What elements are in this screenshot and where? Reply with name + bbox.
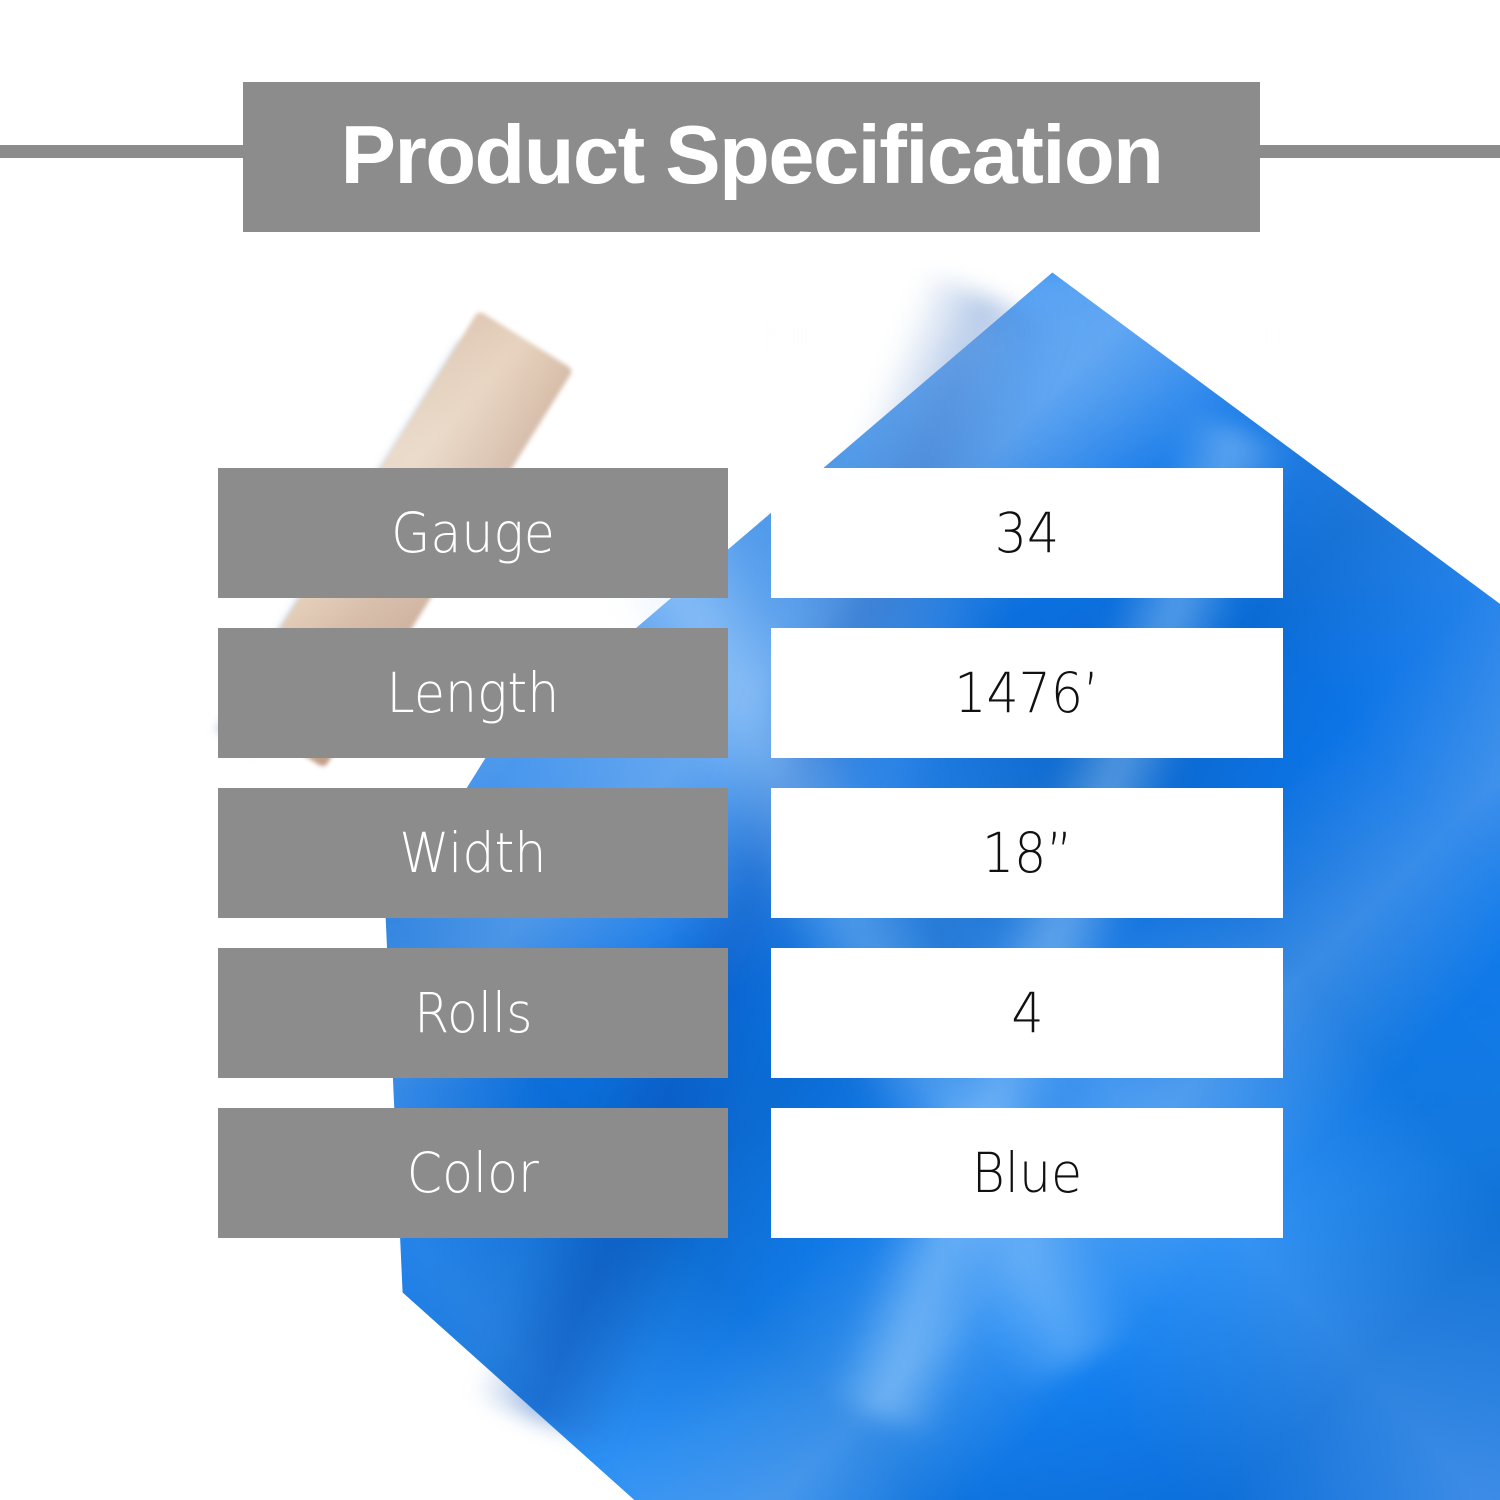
spec-label-text: Color [407, 1146, 539, 1201]
table-row: Gauge 34 [218, 468, 1283, 598]
spec-value-text: 1476’ [955, 666, 1100, 721]
header-banner: Product Specification [243, 82, 1260, 232]
table-row: Rolls 4 [218, 948, 1283, 1078]
spec-value-gauge: 34 [771, 468, 1283, 598]
spec-label-text: Length [387, 666, 560, 721]
spec-label-color: Color [218, 1108, 728, 1238]
spec-value-length: 1476’ [771, 628, 1283, 758]
spec-value-text: Blue [972, 1146, 1082, 1201]
spec-value-text: 4 [1011, 986, 1043, 1041]
spec-value-color: Blue [771, 1108, 1283, 1238]
table-row: Length 1476’ [218, 628, 1283, 758]
spec-label-text: Rolls [414, 986, 532, 1041]
table-row: Color Blue [218, 1108, 1283, 1238]
spec-label-gauge: Gauge [218, 468, 728, 598]
spec-label-text: Gauge [391, 506, 555, 561]
spec-label-width: Width [218, 788, 728, 918]
spec-label-text: Width [399, 826, 546, 881]
spec-value-text: 34 [995, 506, 1059, 561]
spec-value-width: 18” [771, 788, 1283, 918]
spec-value-rolls: 4 [771, 948, 1283, 1078]
spec-label-rolls: Rolls [218, 948, 728, 1078]
table-row: Width 18” [218, 788, 1283, 918]
specification-table: Gauge 34 Length 1476’ Width 18” Rol [218, 468, 1283, 1238]
page-title: Product Specification [337, 113, 1167, 202]
product-specification-graphic: Product Specification Gauge 34 Length 14… [0, 0, 1500, 1500]
spec-label-length: Length [218, 628, 728, 758]
spec-value-text: 18” [982, 826, 1073, 881]
